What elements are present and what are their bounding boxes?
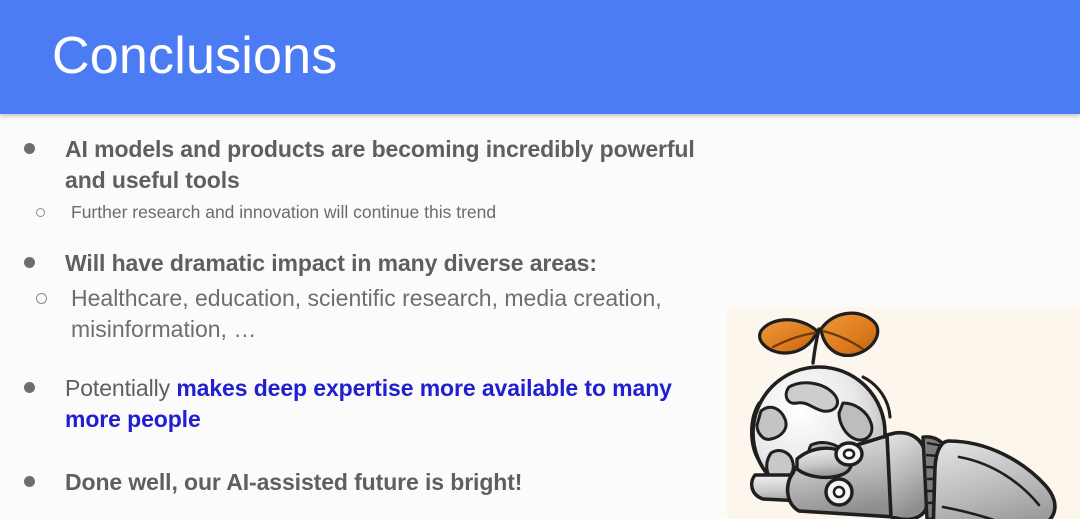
bullet-text-4: Done well, our AI-assisted future is bri… xyxy=(65,467,730,498)
spacer xyxy=(18,224,730,248)
bullet-item-1: AI models and products are becoming incr… xyxy=(18,134,730,196)
page-title: Conclusions xyxy=(52,24,337,88)
bullet-item-4: Done well, our AI-assisted future is bri… xyxy=(18,467,730,498)
subbullet-circle-icon xyxy=(36,293,47,304)
bullet-item-3: Potentially makes deep expertise more av… xyxy=(18,373,730,435)
illustration-robot-hand-globe xyxy=(727,307,1080,519)
subbullet-item-1-1: Further research and innovation will con… xyxy=(18,200,730,224)
spacer xyxy=(18,439,730,467)
title-banner: Conclusions xyxy=(0,0,1080,114)
subbullet-text-2-1: Healthcare, education, scientific resear… xyxy=(71,283,730,345)
bullet-item-2: Will have dramatic impact in many divers… xyxy=(18,248,730,279)
bullet-dot-icon xyxy=(24,257,35,268)
slide: Conclusions AI models and products are b… xyxy=(0,0,1080,519)
bullet-dot-icon xyxy=(24,143,35,154)
bullet-text-2: Will have dramatic impact in many divers… xyxy=(65,248,730,279)
subbullet-text-1-1: Further research and innovation will con… xyxy=(71,200,730,224)
bullet-text-1: AI models and products are becoming incr… xyxy=(65,134,730,196)
slide-body: AI models and products are becoming incr… xyxy=(0,114,1080,519)
bullet-dot-icon xyxy=(24,382,35,393)
robot-hand-globe-icon xyxy=(727,307,1080,519)
bullet-list: AI models and products are becoming incr… xyxy=(18,134,730,502)
bullet-text-3-lead: Potentially xyxy=(65,375,176,401)
subbullet-item-2-1: Healthcare, education, scientific resear… xyxy=(18,283,730,345)
bullet-dot-icon xyxy=(24,476,35,487)
spacer xyxy=(18,345,730,373)
bullet-text-3: Potentially makes deep expertise more av… xyxy=(65,373,730,435)
subbullet-circle-icon xyxy=(36,208,45,217)
